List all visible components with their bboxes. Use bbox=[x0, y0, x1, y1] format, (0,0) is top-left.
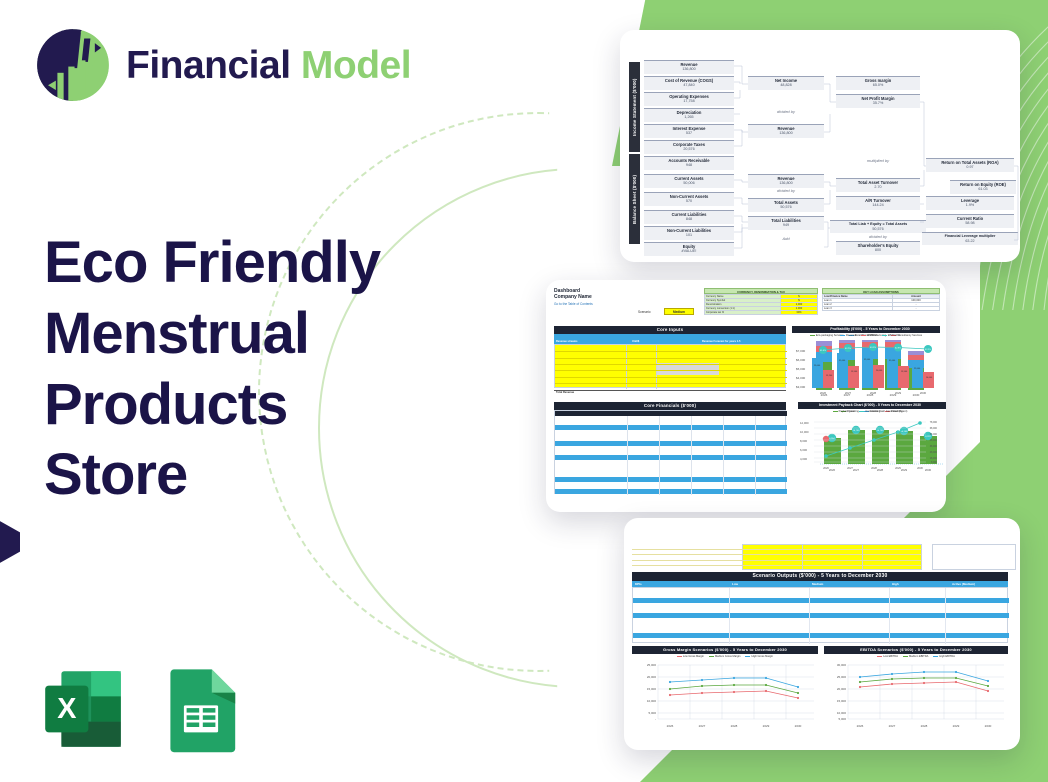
svg-text:2028: 2028 bbox=[731, 724, 738, 728]
dp-node-shareholders-equity: Shareholder's Equity 800 bbox=[836, 241, 920, 255]
svg-text:2030: 2030 bbox=[920, 391, 927, 395]
scenario-sheet: Scenario Outputs ($'000) - 5 Years to De… bbox=[624, 518, 1020, 750]
svg-text:25,000: 25,000 bbox=[647, 663, 657, 667]
dashboard-title: Dashboard Company Name Go to the Table o… bbox=[554, 288, 593, 306]
svg-text:28,000: 28,000 bbox=[930, 451, 938, 454]
svg-text:2027: 2027 bbox=[699, 724, 706, 728]
svg-text:20,000: 20,000 bbox=[647, 675, 657, 679]
svg-text:2028: 2028 bbox=[870, 391, 877, 395]
svg-text:58,000: 58,000 bbox=[930, 433, 938, 436]
dp-node-roa: Return on Total Assets (ROA) 0.97 bbox=[926, 158, 1014, 172]
svg-text:5,000: 5,000 bbox=[648, 711, 656, 715]
brand-logo: Financial Model bbox=[34, 26, 411, 104]
chart-title-gross-margin-scenarios: Gross Margin Scenarios ($'000) - 5 Years… bbox=[632, 646, 818, 654]
svg-text:22,000: 22,000 bbox=[914, 368, 921, 370]
chart-gross-margin-scenarios: 25,00020,00015,000 10,0005,000- 20262027… bbox=[632, 661, 818, 733]
chart-legend-ebitda: Low EBITDA Medium EBITDA High EBITDA bbox=[824, 655, 1008, 658]
dp-node-non-current-assets: Non-Current Assets 570 bbox=[644, 192, 734, 206]
svg-text:15,200: 15,200 bbox=[826, 375, 833, 377]
svg-text:10,000: 10,000 bbox=[647, 699, 657, 703]
svg-text:62.2%: 62.2% bbox=[925, 349, 931, 351]
svg-text:48,000: 48,000 bbox=[930, 439, 938, 442]
chart-payback: 78,00068,00058,000 48,00038,00028,000 18… bbox=[800, 416, 940, 472]
dp-node-net-profit-margin: Net Profit Margin 35.7% bbox=[836, 94, 920, 108]
dp-node-ar-turnover: A/R Turnover 144.24 bbox=[836, 196, 920, 210]
dp-node-total-liabilities: Total Liabilities 949 bbox=[748, 216, 824, 230]
svg-text:2030: 2030 bbox=[917, 466, 923, 470]
dp-node-accounts-receivable: Accounts Receivable 948 bbox=[644, 156, 734, 170]
svg-text:8,000: 8,000 bbox=[931, 461, 938, 464]
core-inputs-grid[interactable] bbox=[554, 344, 786, 388]
dp-node-opex: Operating Expenses 17,758 bbox=[644, 92, 734, 106]
brand-name-part1: Financial bbox=[126, 44, 301, 87]
svg-text:-: - bbox=[655, 717, 656, 721]
dp-node-leverage: Leverage 1.9% bbox=[926, 196, 1014, 210]
dp-operator-divided-2: divided by bbox=[748, 188, 824, 193]
section-core-financials: Core Financials ($'000) bbox=[554, 402, 786, 410]
scenario-analysis-card[interactable]: Scenario Outputs ($'000) - 5 Years to De… bbox=[624, 518, 1020, 750]
svg-text:62.9%: 62.9% bbox=[895, 348, 901, 350]
section-core-inputs: Core Inputs bbox=[554, 326, 786, 334]
svg-text:15,000: 15,000 bbox=[837, 699, 847, 703]
svg-text:61.4%: 61.4% bbox=[820, 350, 826, 352]
page-title-line-4: Store bbox=[44, 440, 464, 511]
dp-node-depreciation: Depreciation 1,265 bbox=[644, 108, 734, 122]
google-sheets-icon[interactable] bbox=[156, 664, 246, 754]
svg-text:2027: 2027 bbox=[889, 724, 896, 728]
dp-node-current-ratio: Current Ratio 58.98 bbox=[926, 214, 1014, 228]
dp-node-revenue: Revenue 136,800 bbox=[644, 60, 734, 74]
chart-title-payback: Investment Payback Chart ($'000) - 5 Yea… bbox=[800, 402, 940, 409]
brand-name: Financial Model bbox=[126, 46, 411, 85]
dp-operator-add: Add bbox=[748, 236, 824, 241]
svg-text:68,000: 68,000 bbox=[930, 427, 938, 430]
svg-text:2030: 2030 bbox=[795, 724, 802, 728]
svg-text:2029: 2029 bbox=[895, 391, 902, 395]
svg-text:78,000: 78,000 bbox=[930, 421, 938, 424]
page-title-line-2: Menstrual bbox=[44, 299, 464, 370]
svg-text:2028: 2028 bbox=[871, 466, 877, 470]
dp-node-financial-leverage-multiplier: Financial Leverage multiplier 63.22 bbox=[922, 232, 1018, 245]
svg-text:10,000: 10,000 bbox=[837, 711, 847, 715]
dupont-diagram: Income Statement ($'000) Balance Sheet (… bbox=[620, 30, 1020, 262]
svg-text:X: X bbox=[57, 693, 76, 725]
dp-node-total-asset-turnover: Total Asset Turnover 2.70 bbox=[836, 178, 920, 192]
svg-text:15,000: 15,000 bbox=[647, 687, 657, 691]
dp-node-roe: Return on Equity (ROE) 61.03 bbox=[950, 180, 1016, 194]
svg-text:25,000: 25,000 bbox=[837, 675, 847, 679]
svg-text:20,000: 20,000 bbox=[876, 370, 883, 372]
svg-text:2027: 2027 bbox=[847, 466, 853, 470]
band-balance-sheet: Balance Sheet ($'000) bbox=[629, 154, 640, 244]
dp-node-cogs: Cost of Revenue (COGS) 47,840 bbox=[644, 76, 734, 90]
svg-text:31,000: 31,000 bbox=[839, 360, 846, 362]
poster-canvas: Financial Model Eco Friendly Menstrual P… bbox=[0, 0, 1048, 782]
scenario-toggle-value[interactable]: Medium bbox=[664, 308, 694, 315]
chart-legend-payback: Payback year Cumulative Cash Generated (… bbox=[800, 410, 940, 413]
dp-node-revenue-2: Revenue 136,800 bbox=[748, 124, 824, 138]
svg-text:2029: 2029 bbox=[953, 724, 960, 728]
dp-node-current-liabilities: Current Liabilities 848 bbox=[644, 210, 734, 224]
chart-ebitda-scenarios: 30,00025,00020,000 15,00010,0005,000 202… bbox=[824, 661, 1008, 733]
dashboard-sheet: Dashboard Company Name Go to the Table o… bbox=[546, 280, 946, 512]
svg-text:31,000: 31,000 bbox=[889, 360, 896, 362]
chart-title-ebitda-scenarios: EBITDA Scenarios ($'000) - 5 Years to De… bbox=[824, 646, 1008, 654]
dp-node-interest: Interest Expense 537 bbox=[644, 124, 734, 138]
dp-node-total-liab-equity: Total Liab + Equity = Total Assets 50,57… bbox=[830, 220, 926, 233]
loan-panel-table: Loan/Finance NameAmount Loan 1100,000 Lo… bbox=[822, 294, 940, 311]
svg-text:2029: 2029 bbox=[895, 466, 901, 470]
svg-text:30,000: 30,000 bbox=[837, 663, 847, 667]
table-row: Loan 3- bbox=[823, 307, 940, 311]
scenario-table-body[interactable] bbox=[632, 587, 1008, 643]
dp-operator-divided-1: divided by bbox=[748, 109, 824, 114]
dashboard-card[interactable]: Dashboard Company Name Go to the Table o… bbox=[546, 280, 946, 512]
dp-node-taxes: Corporate Taxes 20,576 bbox=[644, 140, 734, 154]
dp-node-equity: Equity #VALUE! bbox=[644, 242, 734, 256]
svg-text:2029: 2029 bbox=[763, 724, 770, 728]
table-of-contents-link[interactable]: Go to the Table of Contents bbox=[554, 302, 593, 306]
chart-profitability: 61.4%62.7%63.1%62.9%62.2% 25,00015,200 3… bbox=[800, 340, 940, 396]
dp-node-total-assets: Total Assets 50,576 bbox=[748, 198, 824, 212]
svg-text:2026: 2026 bbox=[667, 724, 674, 728]
svg-text:62.7%: 62.7% bbox=[845, 348, 851, 350]
dp-node-revenue-3: Revenue 136,800 bbox=[748, 174, 824, 188]
chart-legend-profitability: Revenue EBITDA EBITDA % bbox=[800, 334, 940, 337]
decor-navy-wedge bbox=[0, 512, 20, 572]
svg-text:32,000: 32,000 bbox=[864, 359, 871, 361]
svg-text:2028: 2028 bbox=[921, 724, 928, 728]
svg-text:2027: 2027 bbox=[845, 391, 852, 395]
svg-text:19,500: 19,500 bbox=[851, 371, 858, 373]
page-title-line-1: Eco Friendly bbox=[44, 228, 464, 299]
dupont-analysis-card[interactable]: Income Statement ($'000) Balance Sheet (… bbox=[620, 30, 1020, 262]
page-title: Eco Friendly Menstrual Products Store bbox=[44, 228, 464, 511]
svg-text:2026: 2026 bbox=[820, 391, 827, 395]
chart-title-profitability: Profitability ($'000) - 5 Years to Decem… bbox=[800, 326, 940, 333]
svg-text:14,000: 14,000 bbox=[926, 377, 933, 379]
svg-text:25,000: 25,000 bbox=[814, 365, 821, 367]
currency-panel-table: Currency Name$ Currency Symbol$ Denomina… bbox=[704, 294, 818, 315]
dp-operator-divided-3: divided by bbox=[830, 234, 926, 239]
svg-text:63.1%: 63.1% bbox=[870, 347, 876, 349]
core-inputs-total-row: Total Revenue bbox=[554, 390, 786, 395]
section-scenario-outputs: Scenario Outputs ($'000) - 5 Years to De… bbox=[632, 572, 1008, 581]
svg-text:5,000: 5,000 bbox=[838, 717, 846, 721]
svg-text:20,000: 20,000 bbox=[837, 687, 847, 691]
table-row: Corporate tax %30% bbox=[705, 311, 818, 315]
scenario-toggle-label: Scenario bbox=[638, 310, 651, 314]
file-format-icons: X bbox=[38, 664, 246, 754]
core-financials-grid[interactable] bbox=[554, 410, 786, 494]
band-income-statement: Income Statement ($'000) bbox=[629, 62, 640, 152]
svg-text:2026: 2026 bbox=[823, 466, 829, 470]
dp-node-non-current-liabilities: Non-Current Liabilities 101 bbox=[644, 226, 734, 240]
dp-node-gross-margin: Gross margin 65.0% bbox=[836, 76, 920, 90]
svg-text:2030: 2030 bbox=[985, 724, 992, 728]
pie-chart-logo-icon bbox=[34, 26, 112, 104]
chart-legend-gross-margin: Low Gross Margin Medium Gross Margin Hig… bbox=[632, 655, 818, 658]
page-title-line-3: Products bbox=[44, 370, 464, 441]
dp-node-current-assets: Current Assets 50,006 bbox=[644, 174, 734, 188]
brand-name-part2: Model bbox=[301, 44, 411, 87]
dp-node-net-income: Net Income 48,828 bbox=[748, 76, 824, 90]
svg-text:18,000: 18,000 bbox=[930, 457, 938, 460]
scenario-assumptions-grid[interactable] bbox=[632, 544, 1008, 570]
svg-text:19,500: 19,500 bbox=[901, 371, 908, 373]
svg-text:38,000: 38,000 bbox=[930, 445, 938, 448]
microsoft-excel-icon[interactable]: X bbox=[38, 664, 128, 754]
dp-operator-multiplied-1: multiplied by bbox=[836, 158, 920, 163]
svg-text:2026: 2026 bbox=[857, 724, 864, 728]
